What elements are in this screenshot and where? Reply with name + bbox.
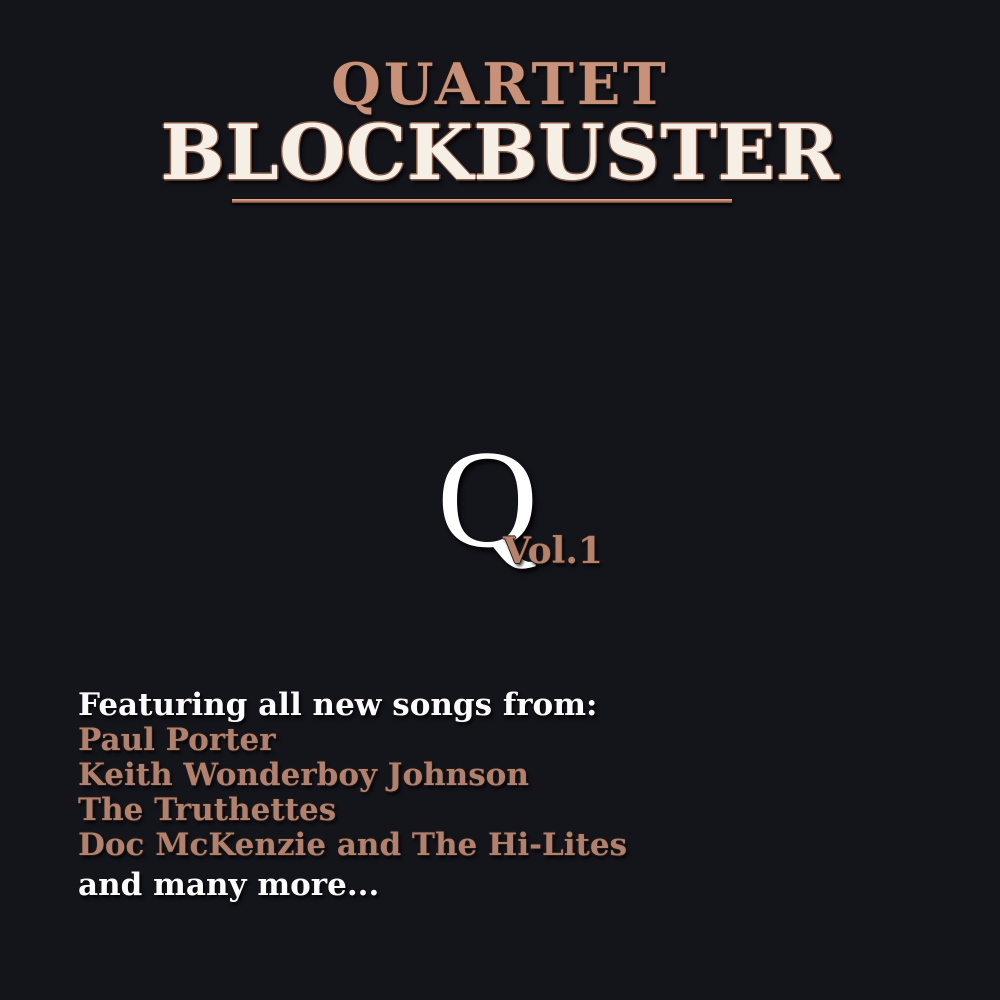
featuring-footer: and many more... — [78, 868, 778, 903]
featured-artist-1: Paul Porter — [78, 723, 778, 758]
center-logo-mark: Q Vol.1 — [0, 430, 1000, 580]
album-title-line-1: QUARTET — [0, 56, 1000, 113]
album-title-line-2: BLOCKBUSTER — [0, 115, 1000, 191]
album-title-block: QUARTET BLOCKBUSTER — [0, 56, 1000, 191]
title-divider-rule — [232, 199, 732, 203]
featuring-heading: Featuring all new songs from: — [78, 688, 778, 723]
album-cover: QUARTET BLOCKBUSTER Q Vol.1 Featuring al… — [0, 0, 1000, 1000]
featured-artist-3: The Truthettes — [78, 793, 778, 828]
featured-artist-4: Doc McKenzie and The Hi-Lites — [78, 828, 778, 863]
featured-artist-2: Keith Wonderboy Johnson — [78, 758, 778, 793]
featuring-block: Featuring all new songs from: Paul Porte… — [78, 688, 778, 903]
volume-label: Vol.1 — [503, 530, 603, 572]
